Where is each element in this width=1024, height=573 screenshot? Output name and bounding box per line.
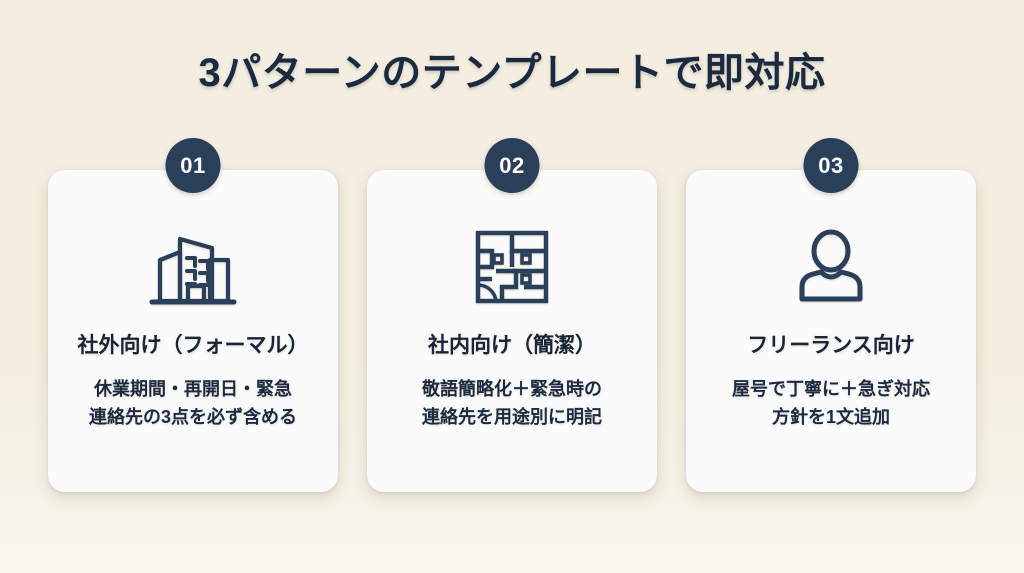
template-card-02[interactable]: 02 [367, 170, 657, 492]
template-card-01[interactable]: 01 [48, 170, 338, 492]
card-number-badge: 01 [166, 138, 221, 193]
office-building-icon [48, 222, 338, 312]
card-description-line: 連絡先を用途別に明記 [379, 403, 645, 431]
template-card-03[interactable]: 03 フリーランス向け 屋号で丁寧に＋急ぎ対応 方針を1文追加 [686, 170, 976, 492]
card-description-line: 屋号で丁寧に＋急ぎ対応 [698, 375, 964, 403]
person-icon [686, 222, 976, 312]
card-description-line: 休業期間・再開日・緊急 [60, 375, 326, 403]
card-title: フリーランス向け [694, 332, 968, 360]
card-title: 社外向け（フォーマル） [56, 332, 330, 360]
floor-plan-icon [367, 222, 657, 312]
card-description-line: 方針を1文追加 [698, 403, 964, 431]
card-description: 敬語簡略化＋緊急時の 連絡先を用途別に明記 [379, 375, 645, 431]
card-description-line: 連絡先の3点を必ず含める [60, 403, 326, 431]
page-title: 3パターンのテンプレートで即対応 [0, 47, 1024, 99]
card-description: 屋号で丁寧に＋急ぎ対応 方針を1文追加 [698, 375, 964, 431]
card-description-line: 敬語簡略化＋緊急時の [379, 375, 645, 403]
card-row: 01 [48, 170, 976, 492]
card-number-badge: 03 [804, 138, 859, 193]
card-title: 社内向け（簡潔） [375, 332, 649, 360]
slide-canvas: 3パターンのテンプレートで即対応 01 [0, 0, 1024, 573]
card-number-badge: 02 [485, 138, 540, 193]
card-description: 休業期間・再開日・緊急 連絡先の3点を必ず含める [60, 375, 326, 431]
